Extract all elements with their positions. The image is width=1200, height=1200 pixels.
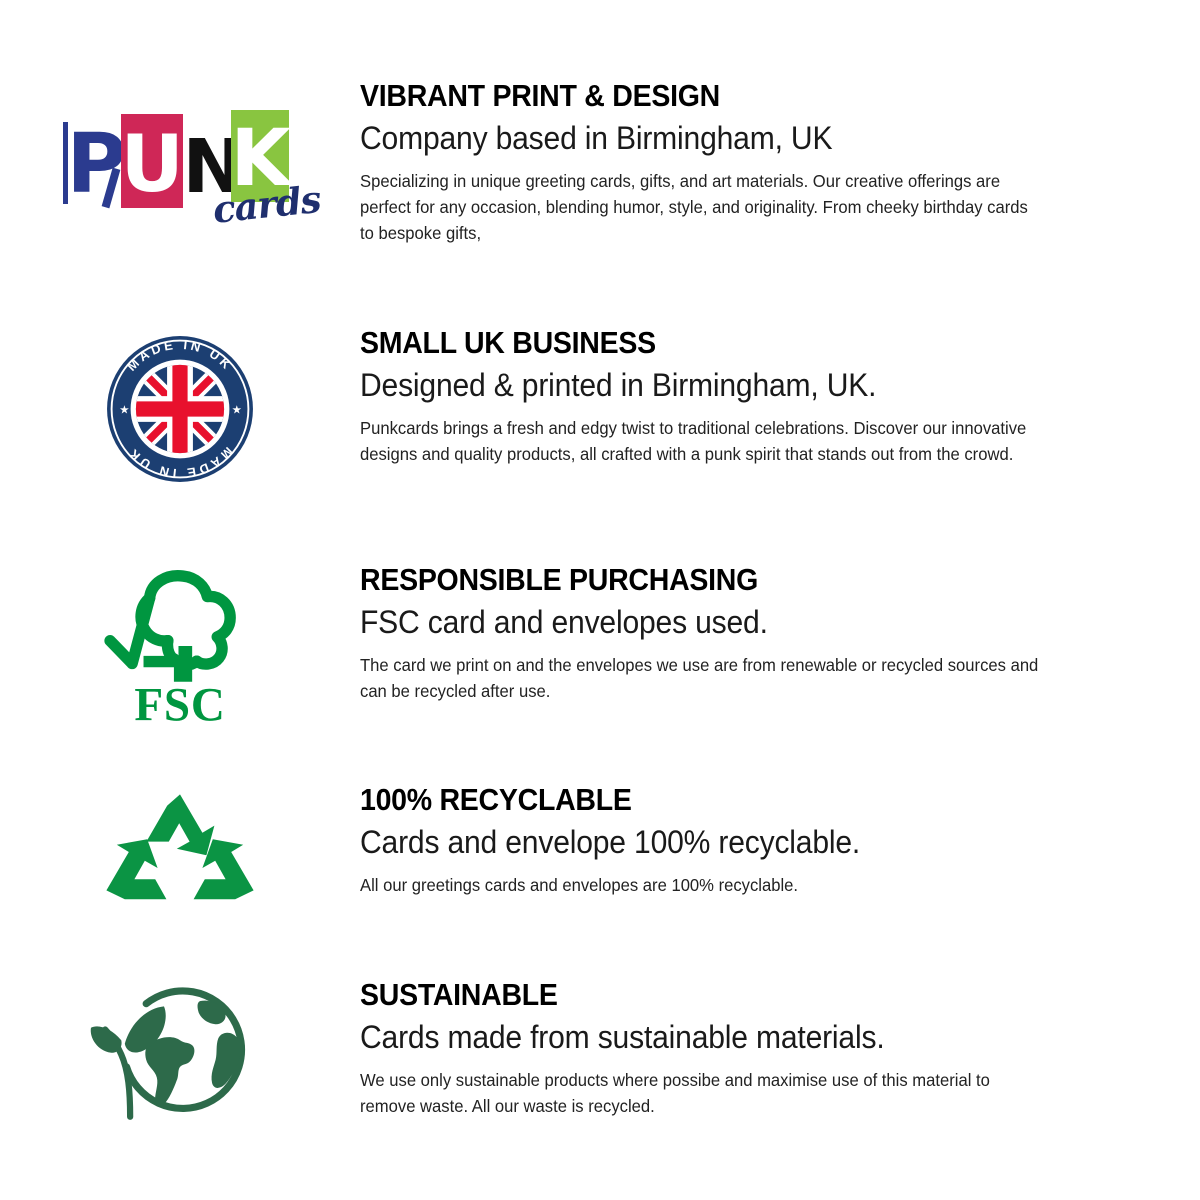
feature-body: SMALL UK BUSINESS Designed & printed in … [360,325,1100,467]
features-page: P U N K cards VIBRANT PRINT & DESIGN Com… [0,0,1200,1200]
punkcards-logo: P U N K cards [63,108,298,223]
feature-title: VIBRANT PRINT & DESIGN [360,78,1022,114]
feature-icon-slot [0,782,360,916]
feature-row-sustainable: SUSTAINABLE Cards made from sustainable … [0,977,1200,1123]
feature-description: All our greetings cards and envelopes ar… [360,872,1044,898]
feature-row-responsible-purchasing: FSC RESPONSIBLE PURCHASING FSC card and … [0,562,1200,726]
globe-sprout-icon [89,985,271,1123]
feature-body: VIBRANT PRINT & DESIGN Company based in … [360,78,1100,246]
feature-title: 100% RECYCLABLE [360,782,1022,818]
badge-star-left: ★ [119,405,129,417]
feature-subtitle: Designed & printed in Birmingham, UK. [360,365,1037,405]
feature-body: SUSTAINABLE Cards made from sustainable … [360,977,1100,1119]
feature-subtitle: Cards and envelope 100% recyclable. [360,822,1037,862]
feature-icon-slot: MADE IN UK MADE IN UK ★ ★ [0,325,360,485]
feature-description: Specializing in unique greeting cards, g… [360,168,1044,246]
feature-title: SMALL UK BUSINESS [360,325,1022,361]
feature-description: We use only sustainable products where p… [360,1067,1044,1119]
feature-row-vibrant-print: P U N K cards VIBRANT PRINT & DESIGN Com… [0,78,1200,246]
badge-star-right: ★ [232,405,242,417]
feature-description: Punkcards brings a fresh and edgy twist … [360,415,1044,467]
feature-title: SUSTAINABLE [360,977,1022,1013]
feature-subtitle: Company based in Birmingham, UK [360,118,1037,158]
recycling-symbol-icon [99,788,261,916]
feature-icon-slot: FSC [0,562,360,726]
feature-body: RESPONSIBLE PURCHASING FSC card and enve… [360,562,1100,704]
fsc-label: FSC [134,679,225,726]
feature-row-small-uk-business: MADE IN UK MADE IN UK ★ ★ SMALL UK BUSIN… [0,325,1200,485]
punk-letter-p: P [67,124,123,202]
punk-letter-u: U [121,126,183,204]
feature-icon-slot: P U N K cards [0,78,360,223]
feature-body: 100% RECYCLABLE Cards and envelope 100% … [360,782,1100,898]
made-in-uk-badge-icon: MADE IN UK MADE IN UK ★ ★ [104,333,256,485]
feature-subtitle: Cards made from sustainable materials. [360,1017,1037,1057]
feature-subtitle: FSC card and envelopes used. [360,602,1037,642]
feature-title: RESPONSIBLE PURCHASING [360,562,1022,598]
feature-row-recyclable: 100% RECYCLABLE Cards and envelope 100% … [0,782,1200,916]
feature-icon-slot [0,977,360,1123]
feature-description: The card we print on and the envelopes w… [360,652,1044,704]
fsc-tree-icon: FSC [104,566,256,726]
